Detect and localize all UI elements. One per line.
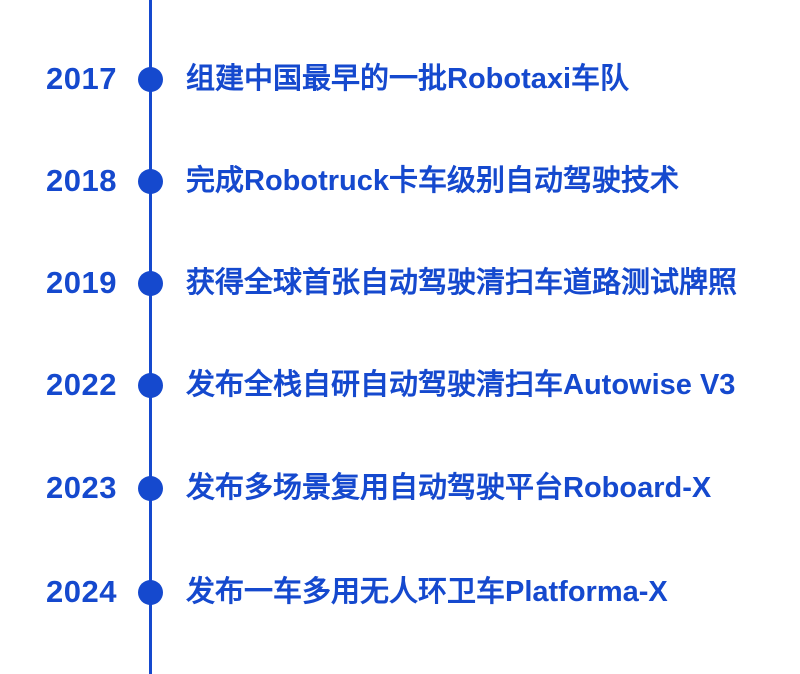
milestone-year-label: 2022 [0, 363, 117, 407]
milestone-event-label: 发布多场景复用自动驾驶平台Roboard-X [186, 466, 792, 510]
timeline-node-dot-icon [138, 580, 163, 605]
timeline-infographic: 2017 组建中国最早的一批Robotaxi车队 2018 完成Robotruc… [0, 0, 800, 674]
milestone-year-label: 2018 [0, 159, 117, 203]
milestone-event-label: 发布全栈自研自动驾驶清扫车Autowise V3 [186, 363, 792, 407]
milestone-year-label: 2023 [0, 466, 117, 510]
milestone-event-label: 组建中国最早的一批Robotaxi车队 [186, 57, 792, 101]
timeline-milestone-2018: 2018 完成Robotruck卡车级别自动驾驶技术 [0, 159, 800, 203]
milestone-year-label: 2017 [0, 57, 117, 101]
milestone-year-label: 2024 [0, 570, 117, 614]
timeline-milestone-2017: 2017 组建中国最早的一批Robotaxi车队 [0, 57, 800, 101]
timeline-node-dot-icon [138, 271, 163, 296]
timeline-milestone-2024: 2024 发布一车多用无人环卫车Platforma-X [0, 570, 800, 614]
timeline-milestone-2022: 2022 发布全栈自研自动驾驶清扫车Autowise V3 [0, 363, 800, 407]
milestone-event-label: 完成Robotruck卡车级别自动驾驶技术 [186, 159, 792, 203]
milestone-year-label: 2019 [0, 261, 117, 305]
timeline-node-dot-icon [138, 67, 163, 92]
timeline-milestone-2019: 2019 获得全球首张自动驾驶清扫车道路测试牌照 [0, 261, 800, 305]
milestone-event-label: 获得全球首张自动驾驶清扫车道路测试牌照 [186, 261, 792, 305]
timeline-node-dot-icon [138, 169, 163, 194]
milestone-event-label: 发布一车多用无人环卫车Platforma-X [186, 570, 792, 614]
timeline-milestone-list: 2017 组建中国最早的一批Robotaxi车队 2018 完成Robotruc… [0, 0, 800, 674]
timeline-node-dot-icon [138, 476, 163, 501]
timeline-milestone-2023: 2023 发布多场景复用自动驾驶平台Roboard-X [0, 466, 800, 510]
timeline-node-dot-icon [138, 373, 163, 398]
